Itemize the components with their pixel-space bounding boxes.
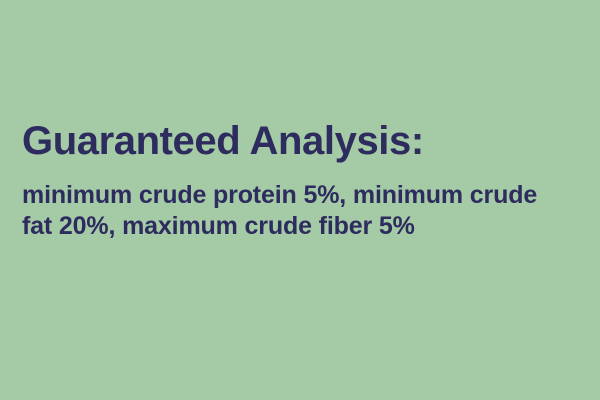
page-title: Guaranteed Analysis: <box>22 118 582 164</box>
label-content: Guaranteed Analysis: minimum crude prote… <box>22 118 582 242</box>
guaranteed-analysis-text: minimum crude protein 5%, minimum crude … <box>22 180 542 242</box>
guaranteed-analysis-label: Guaranteed Analysis: minimum crude prote… <box>0 0 600 400</box>
